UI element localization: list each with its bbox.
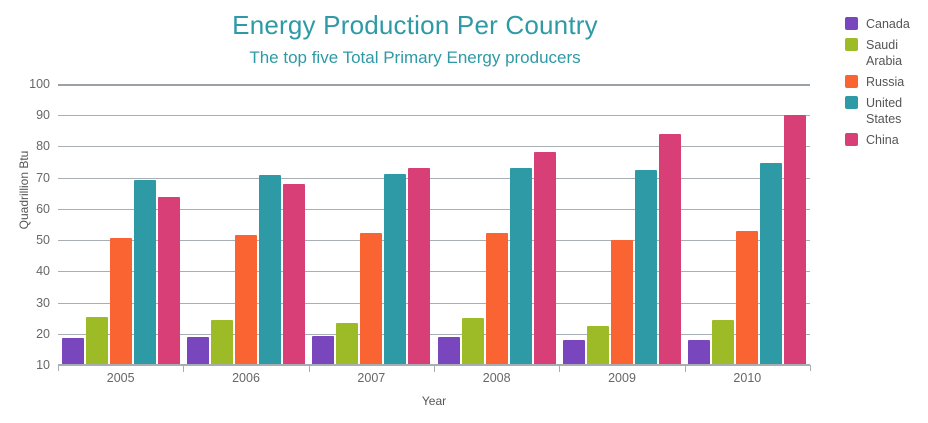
legend-item-label: Canada — [866, 16, 924, 32]
legend-item[interactable]: Saudi Arabia — [845, 37, 928, 69]
legend-item[interactable]: Russia — [845, 74, 928, 90]
bar[interactable] — [587, 326, 609, 365]
bar[interactable] — [688, 340, 710, 365]
x-axis-tick-label: 2009 — [582, 371, 662, 385]
legend-swatch-icon — [845, 17, 858, 30]
x-axis-tick — [183, 365, 184, 372]
x-axis-tick-label: 2006 — [206, 371, 286, 385]
bar[interactable] — [712, 320, 734, 365]
x-axis-tick — [309, 365, 310, 372]
bar[interactable] — [110, 238, 132, 365]
x-axis-tick — [810, 365, 811, 371]
bar[interactable] — [510, 168, 532, 365]
bar[interactable] — [211, 320, 233, 365]
legend-swatch-icon — [845, 38, 858, 51]
y-axis-tick-label: 40 — [18, 265, 50, 278]
bar-group — [58, 84, 183, 365]
x-axis-tick-label: 2010 — [707, 371, 787, 385]
x-axis-tick — [58, 365, 59, 371]
legend-item-label: Saudi Arabia — [866, 37, 924, 69]
bar[interactable] — [235, 235, 257, 366]
bar-group — [309, 84, 434, 365]
bar-group — [559, 84, 684, 365]
bar[interactable] — [563, 340, 585, 365]
chart-title: Energy Production Per Country — [0, 10, 830, 41]
x-axis-tick-label: 2008 — [457, 371, 537, 385]
legend-item-label: United States — [866, 95, 924, 127]
bar[interactable] — [534, 152, 556, 365]
bar[interactable] — [187, 337, 209, 365]
bar[interactable] — [360, 233, 382, 365]
bar[interactable] — [784, 115, 806, 365]
y-axis-tick-label: 20 — [18, 328, 50, 341]
legend-swatch-icon — [845, 75, 858, 88]
bar-group — [434, 84, 559, 365]
chart-subtitle: The top five Total Primary Energy produc… — [0, 48, 830, 68]
bar[interactable] — [283, 184, 305, 365]
y-axis-tick-label: 30 — [18, 297, 50, 310]
bar[interactable] — [384, 174, 406, 365]
bar[interactable] — [611, 240, 633, 365]
bar[interactable] — [659, 134, 681, 365]
legend-item[interactable]: United States — [845, 95, 928, 127]
bar[interactable] — [486, 233, 508, 365]
legend-item[interactable]: Canada — [845, 16, 928, 32]
bar[interactable] — [86, 317, 108, 365]
bar-chart: Energy Production Per Country The top fi… — [0, 0, 928, 423]
x-axis-tick-label: 2007 — [331, 371, 411, 385]
y-axis-tick-label: 90 — [18, 109, 50, 122]
legend-swatch-icon — [845, 96, 858, 109]
bar-group — [183, 84, 308, 365]
bar[interactable] — [259, 175, 281, 365]
x-axis-title: Year — [58, 394, 810, 408]
plot-area — [58, 84, 810, 365]
bar[interactable] — [158, 197, 180, 365]
y-axis-tick-label: 70 — [18, 172, 50, 185]
y-axis-tick-label: 100 — [18, 78, 50, 91]
y-axis-tick-label: 60 — [18, 203, 50, 216]
x-axis-tick — [685, 365, 686, 372]
x-axis-tick — [559, 365, 560, 372]
bar[interactable] — [336, 323, 358, 365]
bar[interactable] — [462, 318, 484, 365]
legend-swatch-icon — [845, 133, 858, 146]
y-axis-tick-label: 50 — [18, 234, 50, 247]
bar[interactable] — [760, 163, 782, 365]
bar[interactable] — [134, 180, 156, 365]
bar[interactable] — [635, 170, 657, 365]
bar[interactable] — [438, 337, 460, 365]
bar[interactable] — [312, 336, 334, 365]
x-axis-tick-label: 2005 — [81, 371, 161, 385]
bar[interactable] — [62, 338, 84, 365]
legend-item[interactable]: China — [845, 132, 928, 148]
legend-item-label: Russia — [866, 74, 924, 90]
x-axis-tick — [434, 365, 435, 372]
y-axis-tick-label: 10 — [18, 359, 50, 372]
chart-legend: CanadaSaudi ArabiaRussiaUnited StatesChi… — [845, 16, 928, 153]
legend-item-label: China — [866, 132, 924, 148]
bar-group — [685, 84, 810, 365]
bar[interactable] — [736, 231, 758, 365]
bar[interactable] — [408, 168, 430, 365]
y-axis-tick-label: 80 — [18, 140, 50, 153]
